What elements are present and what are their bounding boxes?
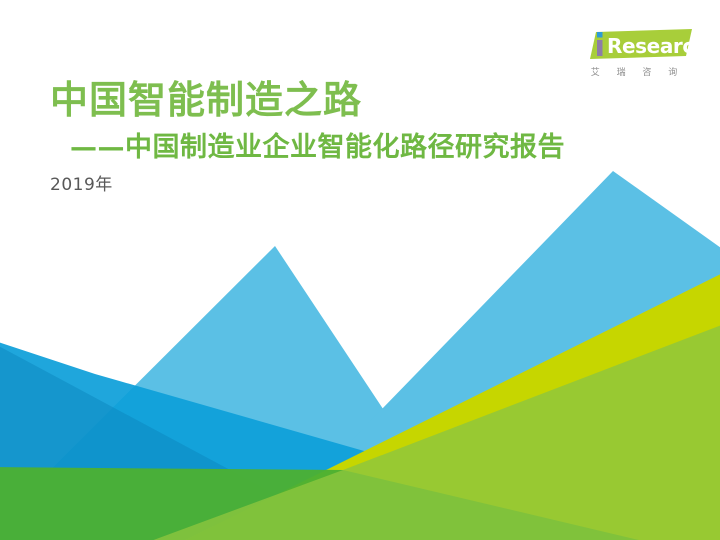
logo-letter-i-stem [597, 40, 603, 56]
logo-chinese-name: 艾 瑞 咨 询 [574, 65, 694, 78]
page-subtitle: ——中国制造业企业智能化路径研究报告 [70, 133, 565, 163]
iresearch-wordmark-icon: Research [574, 28, 694, 62]
page-title: 中国智能制造之路 [50, 80, 362, 121]
report-cover-slide: Research 艾 瑞 咨 询 中国智能制造之路 ——中国制造业企业智能化路径… [0, 0, 720, 540]
logo-letter-i-dot-icon [597, 32, 603, 38]
report-year-label: 2019年 [50, 170, 113, 195]
iresearch-logo-mark: Research [574, 28, 694, 62]
iresearch-logo: Research 艾 瑞 咨 询 [574, 28, 694, 84]
logo-wordmark-text: Research [607, 34, 694, 58]
